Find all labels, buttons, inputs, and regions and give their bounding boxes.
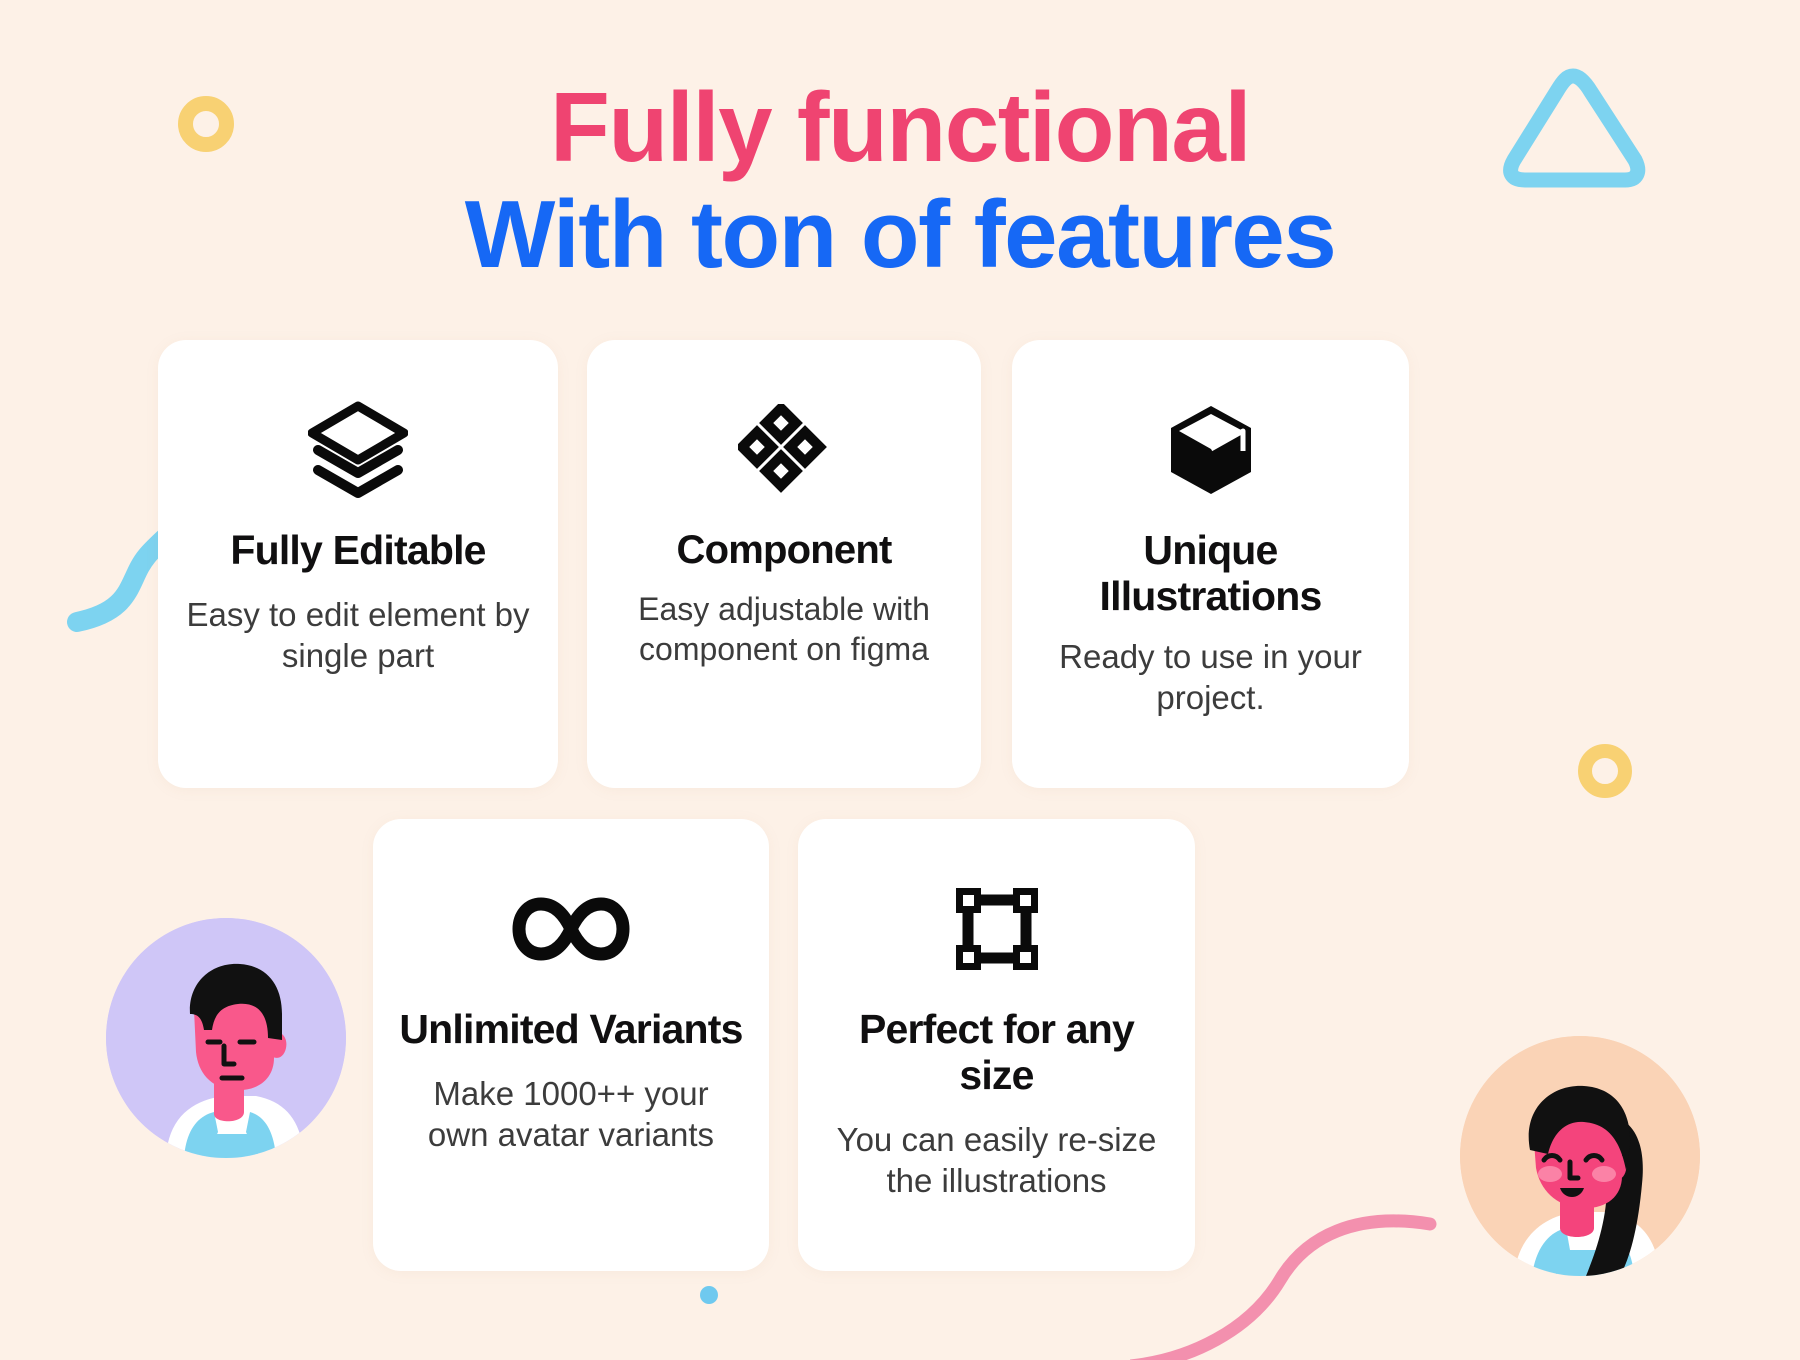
- selection-frame-icon: [954, 877, 1040, 981]
- feature-card-fully-editable[interactable]: Fully Editable Easy to edit element by s…: [158, 340, 558, 788]
- yellow-ring-decoration-right: [1578, 744, 1632, 798]
- blue-dot-decoration: [700, 1286, 718, 1304]
- feature-card-description: Ready to use in your project.: [1038, 636, 1383, 719]
- feature-card-description: Make 1000++ your own avatar variants: [399, 1073, 743, 1156]
- headline-line-1: Fully functional: [0, 78, 1800, 178]
- feature-card-unlimited-variants[interactable]: Unlimited Variants Make 1000++ your own …: [373, 819, 769, 1271]
- component-diamonds-icon: [738, 398, 830, 502]
- avatar: [1460, 1036, 1700, 1276]
- feature-card-component[interactable]: Component Easy adjustable with component…: [587, 340, 981, 788]
- layers-icon: [308, 398, 408, 502]
- infinity-icon: [511, 877, 631, 981]
- poster-canvas: Fully functional With ton of features Fu…: [0, 0, 1800, 1360]
- feature-card-title: Component: [677, 528, 892, 573]
- feature-card-description: Easy to edit element by single part: [184, 594, 532, 677]
- feature-card-description: Easy adjustable with component on figma: [613, 589, 955, 669]
- page-title: Fully functional With ton of features: [0, 78, 1800, 284]
- feature-card-description: You can easily re-size the illustrations: [824, 1119, 1169, 1202]
- avatar: [106, 918, 346, 1158]
- feature-card-title: Fully Editable: [230, 528, 485, 574]
- headline-line-2: With ton of features: [0, 186, 1800, 284]
- feature-card-title: Unlimited Variants: [399, 1007, 742, 1053]
- cube-icon: [1165, 398, 1257, 502]
- feature-card-title: Perfect for any size: [824, 1007, 1169, 1099]
- feature-card-title: Unique Illustrations: [1038, 528, 1383, 620]
- feature-card-unique-illustrations[interactable]: Unique Illustrations Ready to use in you…: [1012, 340, 1409, 788]
- feature-card-perfect-any-size[interactable]: Perfect for any size You can easily re-s…: [798, 819, 1195, 1271]
